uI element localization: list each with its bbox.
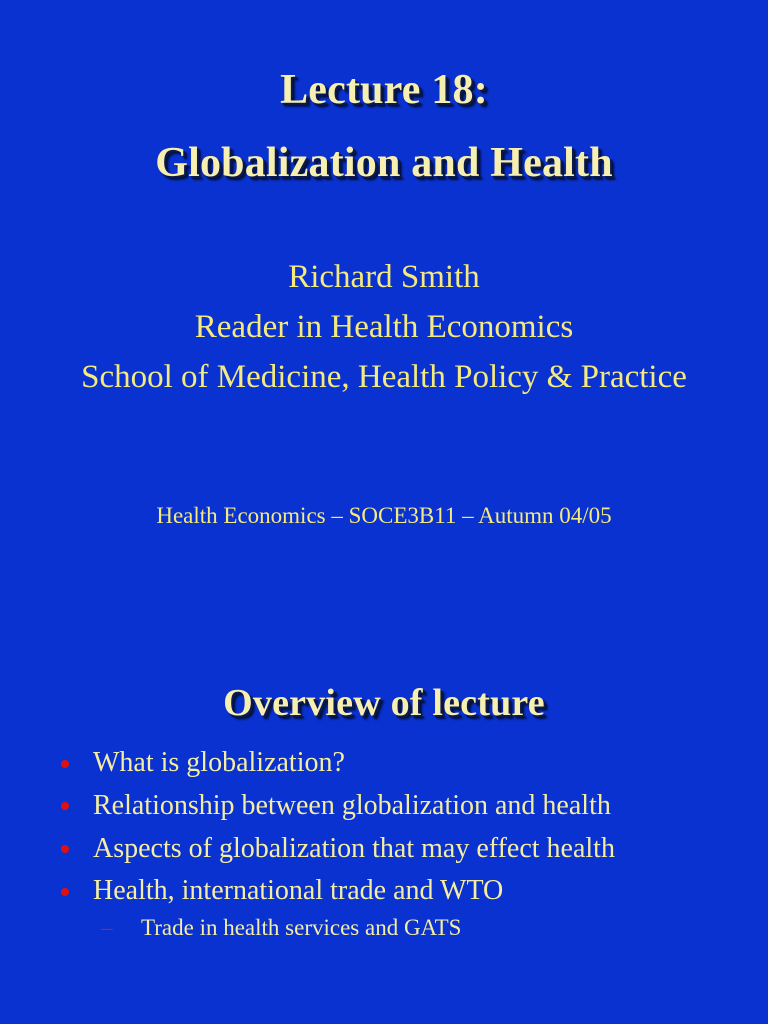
lecture-title-line-2: Globalization and Health [0,141,768,185]
list-item: Health, international trade and WTO – Tr… [55,873,738,943]
bullet-dot-icon [61,802,69,810]
sub-bullet-label: Trade in health services and GATS [141,915,461,940]
bullet-dot-icon [61,760,69,768]
bullet-label: Relationship between globalization and h… [93,790,611,821]
en-dash-icon: – [101,913,113,943]
presenter-role: Reader in Health Economics [0,311,768,345]
bullet-label: Aspects of globalization that may effect… [93,833,615,864]
bullet-dot-icon [61,888,69,896]
slide-deck: Lecture 18: Globalization and Health Ric… [0,0,768,1024]
overview-bullet-list: What is globalization? Relationship betw… [55,745,738,950]
sub-bullet-list: – Trade in health services and GATS [93,913,738,943]
overview-heading: Overview of lecture [0,684,768,724]
bullet-label: What is globalization? [93,747,345,778]
presenter-name: Richard Smith [0,261,768,295]
list-item: Relationship between globalization and h… [55,788,738,824]
overview-slide: Overview of lecture What is globalizatio… [0,600,768,1024]
title-slide: Lecture 18: Globalization and Health Ric… [0,0,768,600]
sub-list-item: – Trade in health services and GATS [93,913,738,943]
bullet-dot-icon [61,845,69,853]
presenter-school: School of Medicine, Health Policy & Prac… [0,361,768,395]
list-item: What is globalization? [55,745,738,781]
course-code-line: Health Economics – SOCE3B11 – Autumn 04/… [0,503,768,529]
list-item: Aspects of globalization that may effect… [55,831,738,867]
lecture-title-line-1: Lecture 18: [0,68,768,112]
bullet-label: Health, international trade and WTO [93,875,503,906]
